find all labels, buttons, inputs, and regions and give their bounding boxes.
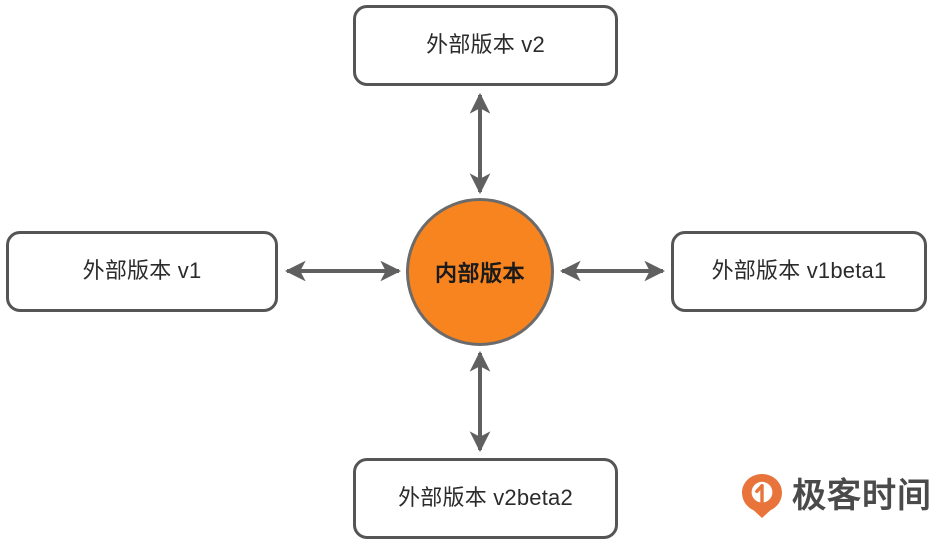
watermark-text: 极客时间 <box>792 479 932 513</box>
geektime-logo-icon <box>741 473 783 519</box>
node-internal-version[interactable]: 内部版本 <box>406 198 554 346</box>
node-external-v1[interactable]: 外部版本 v1 <box>6 231 278 312</box>
node-external-v1beta1-label: 外部版本 v1beta1 <box>712 258 887 284</box>
node-external-v2beta2-label: 外部版本 v2beta2 <box>398 485 573 511</box>
watermark-geektime: 极客时间 <box>741 473 932 519</box>
diagram-canvas: 外部版本 v2 外部版本 v1 外部版本 v1beta1 外部版本 v2beta… <box>0 0 946 540</box>
node-external-v2beta2[interactable]: 外部版本 v2beta2 <box>353 458 618 539</box>
node-internal-version-label: 内部版本 <box>435 256 525 288</box>
node-external-v2-label: 外部版本 v2 <box>426 32 545 58</box>
node-external-v1-label: 外部版本 v1 <box>83 258 202 284</box>
node-external-v1beta1[interactable]: 外部版本 v1beta1 <box>671 231 927 312</box>
node-external-v2[interactable]: 外部版本 v2 <box>353 5 618 86</box>
